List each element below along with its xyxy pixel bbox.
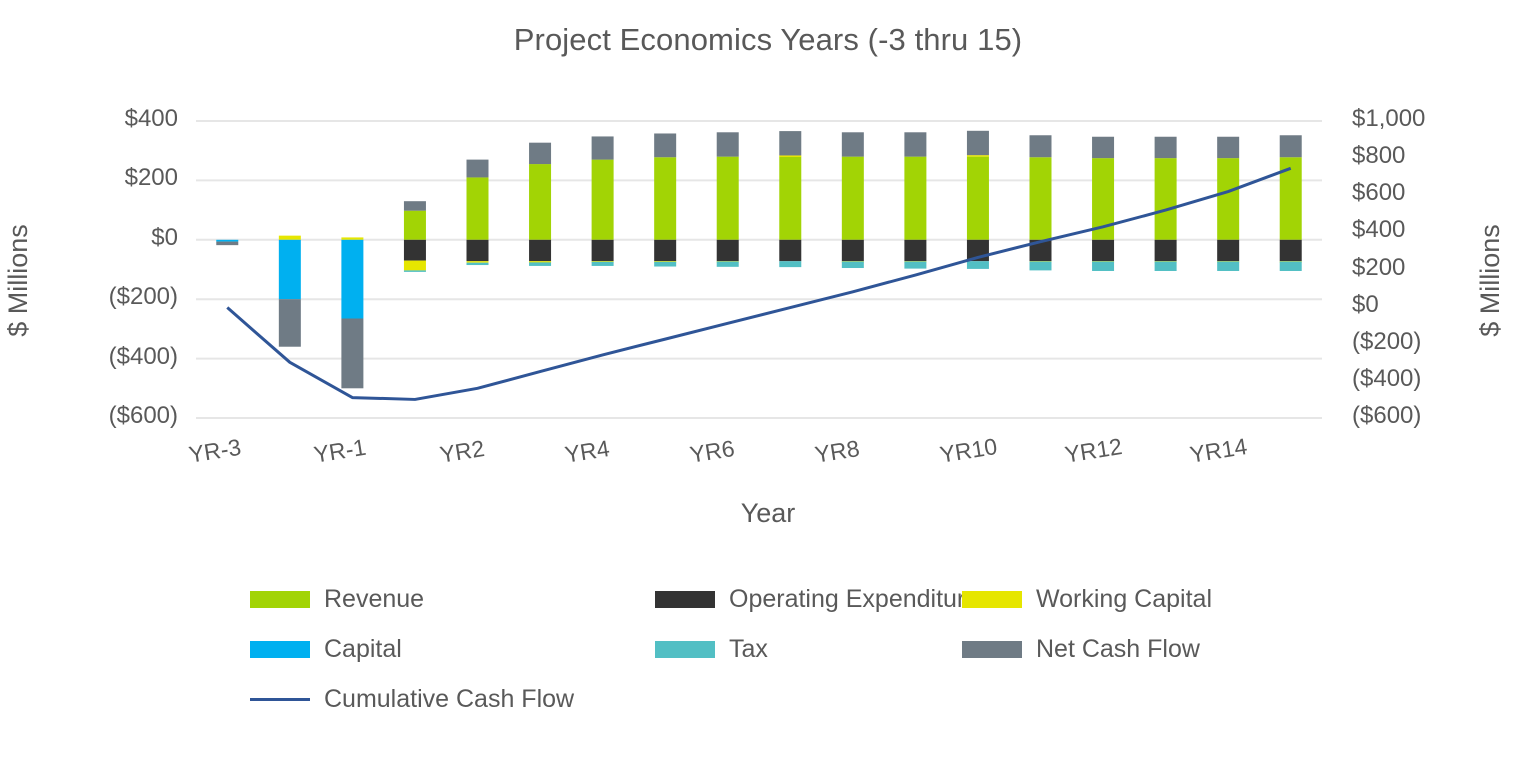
bar-segment <box>967 131 989 155</box>
bar-segment <box>842 261 864 268</box>
legend-item-capital[interactable]: Capital <box>250 635 402 664</box>
bar-segment <box>341 240 363 319</box>
bar-segment <box>1217 240 1239 261</box>
bar-segment <box>529 240 551 261</box>
bar-segment <box>717 240 739 261</box>
legend-label-working-capital: Working Capital <box>1036 585 1212 614</box>
bar-segment <box>529 262 551 266</box>
bar-segment <box>779 261 801 267</box>
bar-segment <box>717 132 739 156</box>
bar-segment <box>967 261 989 269</box>
bar-segment <box>904 157 926 240</box>
bar-segment <box>717 261 739 266</box>
bar-segment <box>467 160 489 178</box>
bar-segment <box>1155 261 1177 271</box>
bar-segment <box>467 240 489 261</box>
bar-segment <box>1217 137 1239 158</box>
bar-segment <box>1217 261 1239 271</box>
legend-label-tax: Tax <box>729 635 768 664</box>
bar-segment <box>216 240 238 242</box>
bar-segment <box>1155 137 1177 158</box>
bar-segment <box>967 157 989 240</box>
bar-segment <box>592 262 614 266</box>
bar-segment <box>842 132 864 156</box>
legend-item-cumulative-cash-flow[interactable]: Cumulative Cash Flow <box>250 685 574 714</box>
bar-segment <box>779 155 801 157</box>
bar-segment <box>654 262 676 267</box>
bar-segment <box>404 201 426 211</box>
bar-segment <box>341 319 363 389</box>
bar-segment <box>1155 240 1177 261</box>
legend-label-net-cash-flow: Net Cash Flow <box>1036 635 1200 664</box>
bar-segment <box>467 261 489 263</box>
bar-segment <box>904 132 926 156</box>
bar-segment <box>1155 158 1177 240</box>
bar-segment <box>904 261 926 268</box>
legend-item-working-capital[interactable]: Working Capital <box>962 585 1212 614</box>
bar-segment <box>842 157 864 240</box>
bar-segment <box>1280 240 1302 261</box>
bar-segment <box>404 240 426 261</box>
legend-label-cumulative-cash-flow: Cumulative Cash Flow <box>324 685 574 714</box>
bar-segment <box>529 143 551 164</box>
bar-segment <box>842 240 864 261</box>
legend-swatch-operating-expenditure <box>655 591 715 608</box>
bar-segment <box>1217 158 1239 240</box>
bar-segment <box>216 242 238 246</box>
legend-swatch-revenue <box>250 591 310 608</box>
chart-legend: Revenue Operating Expenditure Working Ca… <box>0 585 1536 735</box>
bar-segment <box>279 299 301 347</box>
chart-container: Project Economics Years (-3 thru 15) $ M… <box>0 0 1536 760</box>
bar-segment <box>592 160 614 240</box>
bar-segment <box>1030 261 1052 270</box>
legend-label-operating-expenditure: Operating Expenditure <box>729 585 979 614</box>
bar-segment <box>1280 261 1302 271</box>
legend-item-net-cash-flow[interactable]: Net Cash Flow <box>962 635 1200 664</box>
legend-row-2: Capital Tax Net Cash Flow <box>0 635 1536 685</box>
legend-row-3: Cumulative Cash Flow <box>0 685 1536 735</box>
bar-segment <box>467 177 489 239</box>
bar-segment <box>654 133 676 157</box>
bar-segment <box>404 270 426 272</box>
legend-item-operating-expenditure[interactable]: Operating Expenditure <box>655 585 979 614</box>
bar-segment <box>1030 157 1052 240</box>
legend-label-revenue: Revenue <box>324 585 424 614</box>
bar-segment <box>529 164 551 240</box>
bar-segment <box>717 157 739 240</box>
bar-segment <box>779 240 801 261</box>
legend-swatch-working-capital <box>962 591 1022 608</box>
bar-segment <box>654 157 676 240</box>
bar-segment <box>1092 137 1114 158</box>
legend-label-capital: Capital <box>324 635 402 664</box>
bar-segment <box>779 157 801 240</box>
legend-swatch-capital <box>250 641 310 658</box>
bar-segment <box>467 263 489 265</box>
bar-segment <box>279 236 301 240</box>
bar-segment <box>654 240 676 261</box>
cumulative-cash-flow-line <box>227 168 1290 399</box>
bar-segment <box>279 240 301 299</box>
legend-swatch-tax <box>655 641 715 658</box>
legend-row-1: Revenue Operating Expenditure Working Ca… <box>0 585 1536 635</box>
bar-segment <box>967 155 989 157</box>
legend-swatch-cumulative-cash-flow <box>250 698 310 701</box>
bar-segment <box>1030 135 1052 157</box>
legend-swatch-net-cash-flow <box>962 641 1022 658</box>
legend-item-tax[interactable]: Tax <box>655 635 768 664</box>
bar-segment <box>592 136 614 159</box>
bar-segment <box>904 240 926 261</box>
bar-segment <box>404 211 426 240</box>
legend-item-revenue[interactable]: Revenue <box>250 585 424 614</box>
bar-segment <box>779 131 801 155</box>
bar-segment <box>1092 261 1114 271</box>
bar-segment <box>1280 135 1302 157</box>
bar-segment <box>341 237 363 239</box>
bar-segment <box>1092 240 1114 261</box>
bar-segment <box>592 240 614 261</box>
bar-segment <box>404 261 426 271</box>
